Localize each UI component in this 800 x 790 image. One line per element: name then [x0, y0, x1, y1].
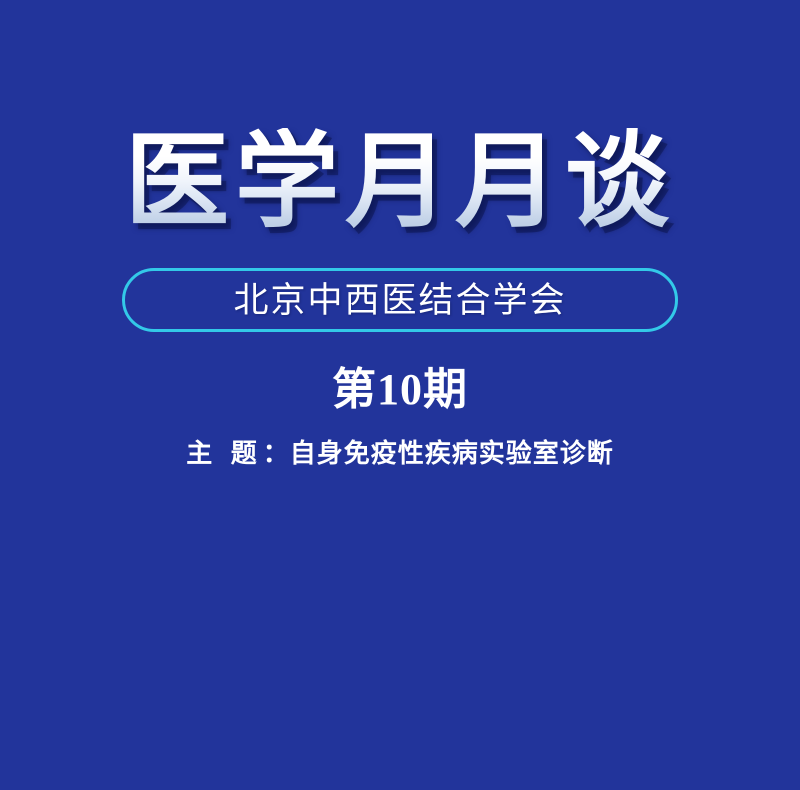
issue-number: 第10期 [0, 366, 800, 414]
main-title: 医学月月谈 [0, 128, 800, 238]
poster-canvas: 医学月月谈 医学月月谈 北京中西医结合学会 第10期 主 题：自身免疫性疾病实验… [0, 0, 800, 790]
theme-line: 主 题：自身免疫性疾病实验室诊断 [0, 438, 800, 471]
theme-value: 自身免疫性疾病实验室诊断 [290, 439, 614, 468]
theme-separator: ： [263, 439, 290, 468]
theme-label: 主 题 [186, 439, 263, 468]
main-title-text: 医学月月谈 [125, 128, 675, 238]
organization-badge-label: 北京中西医结合学会 [233, 283, 566, 318]
lower-blank-area [0, 500, 800, 790]
organization-badge: 北京中西医结合学会 [122, 268, 678, 332]
poster-content: 医学月月谈 医学月月谈 北京中西医结合学会 第10期 主 题：自身免疫性疾病实验… [0, 0, 800, 790]
